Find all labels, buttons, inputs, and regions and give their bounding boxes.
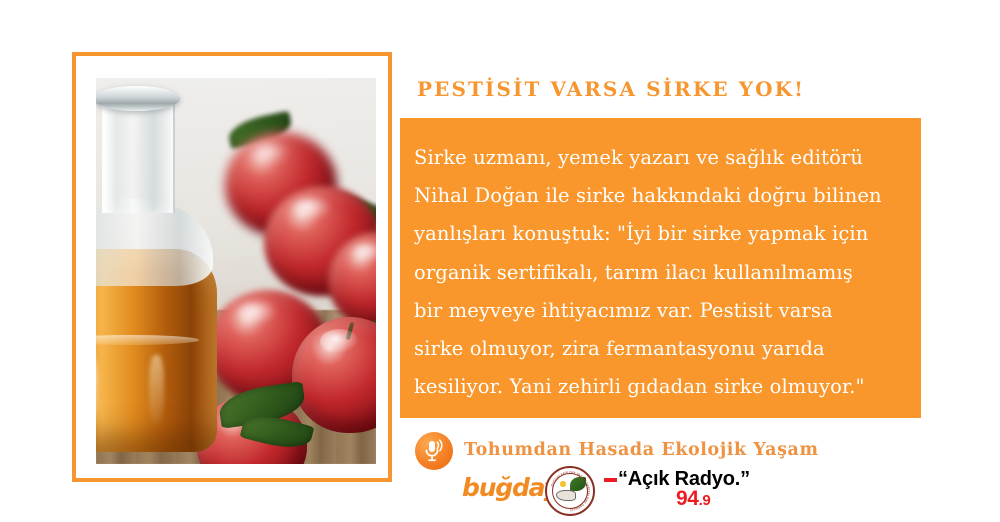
quote-text: Sirke uzmanı, yemek yazarı ve sağlık edi… — [414, 139, 909, 406]
vinegar-apples-photo — [96, 78, 376, 464]
glass-highlight — [96, 351, 98, 432]
vinegar-surface — [96, 335, 199, 345]
glass-highlight — [149, 355, 163, 424]
svg-text:BUĞDAY EKOLOJİK YAŞAMI DESTEKL: BUĞDAY EKOLOJİK YAŞAMI DESTEKLEME DERNEĞ… — [550, 470, 590, 513]
radyo-frequency: 94.9 — [676, 487, 710, 511]
poster-card: PESTİSİT VARSA SİRKE YOK! Sirke uzmanı, … — [0, 0, 1000, 522]
radyo-freq-int: 94 — [676, 487, 699, 510]
acik-radyo-logo[interactable]: “Açık Radyo.” 94.9 — [604, 470, 764, 514]
tagline: Tohumdan Hasada Ekolojik Yaşam — [464, 440, 819, 460]
microphone-broadcast-icon — [415, 432, 453, 470]
radyo-dash-icon — [604, 478, 617, 482]
vinegar-carafe — [96, 90, 230, 453]
photo-frame — [72, 52, 392, 482]
quote-panel: Sirke uzmanı, yemek yazarı ve sağlık edi… — [400, 118, 921, 418]
radyo-freq-dec: .9 — [699, 492, 711, 509]
page-title: PESTİSİT VARSA SİRKE YOK! — [417, 77, 805, 101]
organic-certification-seal-icon: BUĞDAY EKOLOJİK YAŞAMI DESTEKLEME DERNEĞ… — [545, 466, 595, 516]
bugday-logo[interactable]: buğday — [462, 473, 554, 505]
